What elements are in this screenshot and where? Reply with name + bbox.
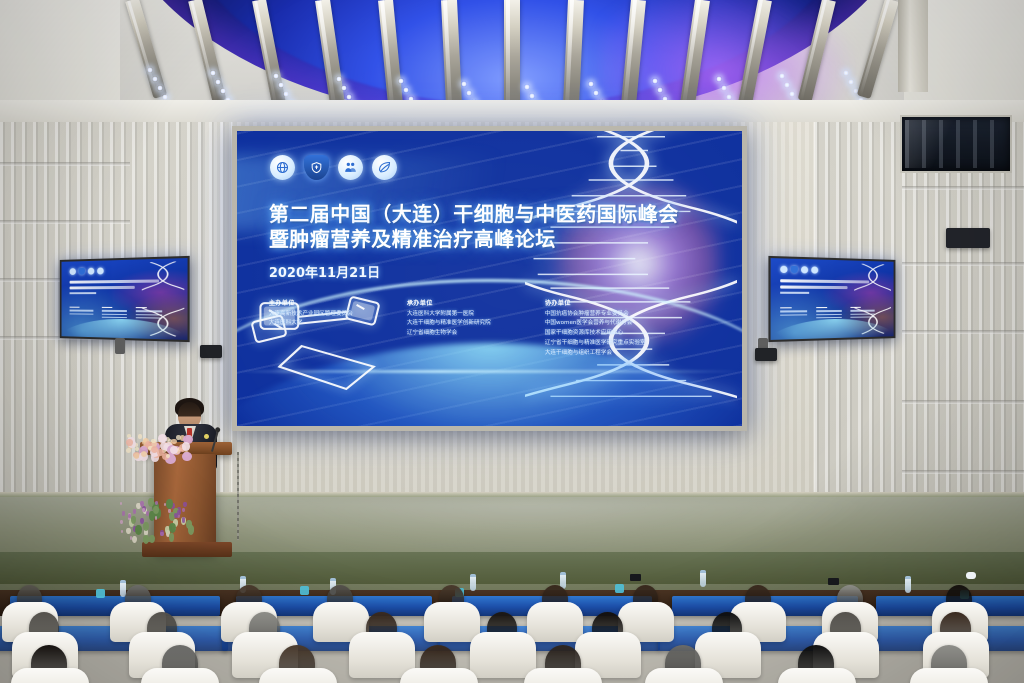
audience-chair [910, 668, 988, 683]
slide-column-item: 大连医科大学 [269, 319, 381, 329]
flower-petal [160, 532, 163, 537]
flower-petal [169, 533, 175, 542]
audience-chair [259, 668, 337, 683]
water-bottle [470, 574, 476, 591]
audience-chair [400, 668, 478, 683]
smartphone [828, 578, 839, 585]
right-pillar [898, 0, 928, 92]
ceiling-spotlight [843, 70, 849, 76]
flower-petal [126, 448, 131, 453]
water-bottle [700, 570, 706, 587]
audience-chair [527, 602, 583, 642]
slide-column-item: 大连医科大学附属第一医院 [407, 310, 519, 320]
flower-petal [149, 535, 155, 544]
drink-cup [300, 586, 309, 595]
ceiling-spotlight [278, 82, 284, 88]
shield-badge-icon [304, 155, 329, 180]
podium-cable [237, 452, 239, 540]
flower-petal [141, 451, 147, 457]
ceiling-fin [857, 0, 898, 99]
flower-petal [120, 520, 122, 524]
floral-arrangement [120, 434, 204, 544]
ceiling-spotlight [789, 91, 795, 97]
flower-petal [135, 525, 142, 535]
ceiling-spotlight [652, 78, 658, 84]
ceiling-spotlight [593, 90, 599, 96]
ceiling-spotlight [848, 79, 854, 85]
control-room-window [900, 115, 1012, 173]
slide-column-item: 大连高新技术产业园区管理委员会 [269, 310, 381, 320]
ceiling-spotlight [220, 88, 226, 94]
flower-petal [146, 511, 149, 515]
led-video-wall: 第二届中国（大连）干细胞与中医药国际峰会 暨肿瘤营养及精准治疗高峰论坛 2020… [232, 126, 747, 431]
flower-petal [142, 508, 145, 512]
audience-seating [0, 556, 1024, 683]
ceiling-spotlight [283, 91, 289, 97]
slide-column-item: 辽宁省细胞生物学会 [407, 329, 519, 339]
ceiling-spotlight [716, 76, 722, 82]
flower-petal [168, 509, 170, 512]
audience-chair [778, 668, 856, 683]
flower-petal [126, 528, 131, 535]
ceiling-spotlight [524, 84, 530, 90]
people-badge-icon [88, 268, 95, 275]
flower-petal [169, 523, 176, 533]
slide-organizer-columns: 主办单位大连高新技术产业园区管理委员会大连医科大学承办单位大连医科大学附属第一医… [269, 298, 657, 359]
flower-petal [126, 439, 132, 445]
flower-petal [143, 522, 149, 531]
podium-base [142, 542, 232, 557]
audience-chair [141, 668, 219, 683]
flower-petal [121, 530, 123, 534]
podium-area [118, 392, 258, 567]
ceiling-spotlight [273, 73, 279, 79]
ceiling-spotlight [210, 70, 216, 76]
slide-column-item: 中国抗癌协会肿瘤营养专业委员会 [545, 310, 657, 320]
slide-date: 2020年11月21日 [269, 262, 673, 281]
people-badge-icon [801, 266, 808, 273]
shield-badge-icon [79, 268, 85, 275]
ceiling-assembly [0, 0, 1024, 122]
slide-organizer-column: 主办单位大连高新技术产业园区管理委员会大连医科大学 [269, 298, 381, 359]
right-monitor-screen [771, 258, 894, 340]
drink-cup [96, 589, 105, 598]
water-bottle [905, 576, 911, 593]
ceiling-spotlight [346, 94, 352, 100]
flower-petal [133, 509, 136, 514]
monitor-badges-left [70, 267, 104, 275]
slide-column-item: 大连干细胞与组织工程学会 [545, 349, 657, 359]
flower-petal [166, 454, 170, 458]
flower-petal [132, 536, 136, 543]
flower-petal [143, 535, 149, 544]
ceiling-spotlight [529, 93, 535, 99]
slide-column-item: 中国women医学会营养与代谢分会 [545, 319, 657, 329]
ceiling-rim [0, 100, 1024, 122]
audience-chair [470, 632, 536, 678]
right-wall-monitor [768, 256, 895, 342]
slide-column-heading: 主办单位 [269, 298, 381, 307]
slide-column-item: 国家干细胞资源库技术应用中心 [545, 329, 657, 339]
slide-logo-badges [270, 155, 397, 180]
drink-cup [615, 584, 624, 593]
flower-petal [182, 452, 192, 462]
leaf-badge-icon [811, 266, 818, 273]
ceiling-spotlight [784, 82, 790, 88]
monitor-mount-left [115, 338, 125, 354]
wall-device-left [200, 345, 222, 358]
flower-petal [140, 501, 143, 506]
people-badge-icon [338, 155, 363, 180]
led-screen-surface: 第二届中国（大连）干细胞与中医药国际峰会 暨肿瘤营养及精准治疗高峰论坛 2020… [237, 131, 742, 426]
left-monitor-screen [62, 258, 188, 340]
audience-chair [424, 602, 480, 642]
flower-petal [183, 502, 187, 507]
flower-petal [171, 439, 177, 445]
left-wall-monitor [60, 256, 190, 342]
ceiling-spotlight [157, 85, 163, 91]
ceiling-spotlight [147, 67, 153, 73]
slide-title-line-1: 第二届中国（大连）干细胞与中医药国际峰会 [269, 202, 673, 228]
audience-chair [11, 668, 89, 683]
ceiling-spotlight [336, 76, 342, 82]
leaf-badge-icon [97, 267, 104, 274]
slide-column-item: 辽宁省干细胞与精准医学研究重点实验室 [545, 339, 657, 349]
slide-column-heading: 承办单位 [407, 298, 519, 307]
slide-title-block: 第二届中国（大连）干细胞与中医药国际峰会 暨肿瘤营养及精准治疗高峰论坛 2020… [269, 202, 673, 281]
audience-chair [645, 668, 723, 683]
flower-petal [182, 442, 191, 451]
shield-badge-icon [790, 266, 797, 273]
wall-speaker-panel [946, 228, 990, 248]
leaf-badge-icon [372, 155, 397, 180]
audience-chair [524, 668, 602, 683]
flower-petal [120, 502, 122, 505]
ceiling-spotlight [721, 85, 727, 91]
ceiling-spotlight [779, 73, 785, 79]
slide-title-line-2: 暨肿瘤营养及精准治疗高峰论坛 [269, 227, 673, 253]
speaker-badge-pin [204, 434, 209, 439]
ceiling-spotlight [215, 79, 221, 85]
flower-petal [160, 442, 168, 450]
wall-device-right [755, 348, 777, 361]
slide-organizer-column: 协办单位中国抗癌协会肿瘤营养专业委员会中国women医学会营养与代谢分会国家干细… [545, 298, 657, 359]
ceiling-fin [126, 0, 167, 99]
flower-petal [138, 434, 143, 439]
slide-column-item: 大连干细胞与精准医学创新研究院 [407, 319, 519, 329]
flower-petal [155, 516, 157, 520]
slide-column-heading: 协办单位 [545, 298, 657, 307]
face-mask [966, 572, 976, 579]
globe-badge-icon [270, 155, 295, 180]
conference-hall-photo: 第二届中国（大连）干细胞与中医药国际峰会 暨肿瘤营养及精准治疗高峰论坛 2020… [0, 0, 1024, 683]
globe-badge-icon [70, 268, 76, 275]
ceiling-spotlight [588, 81, 594, 87]
ceiling-spotlight [726, 94, 732, 100]
flower-petal [182, 508, 185, 512]
flower-petal [131, 516, 137, 524]
ceiling-spotlight [657, 87, 663, 93]
flower-petal [151, 439, 156, 444]
ceiling-spotlight [152, 76, 158, 82]
smartphone [630, 574, 641, 581]
flower-petal [122, 511, 125, 515]
ceiling-spotlight [341, 85, 347, 91]
globe-badge-icon [780, 266, 787, 273]
monitor-badges-right [780, 266, 818, 274]
slide-organizer-column: 承办单位大连医科大学附属第一医院大连干细胞与精准医学创新研究院辽宁省细胞生物学会 [407, 298, 519, 359]
